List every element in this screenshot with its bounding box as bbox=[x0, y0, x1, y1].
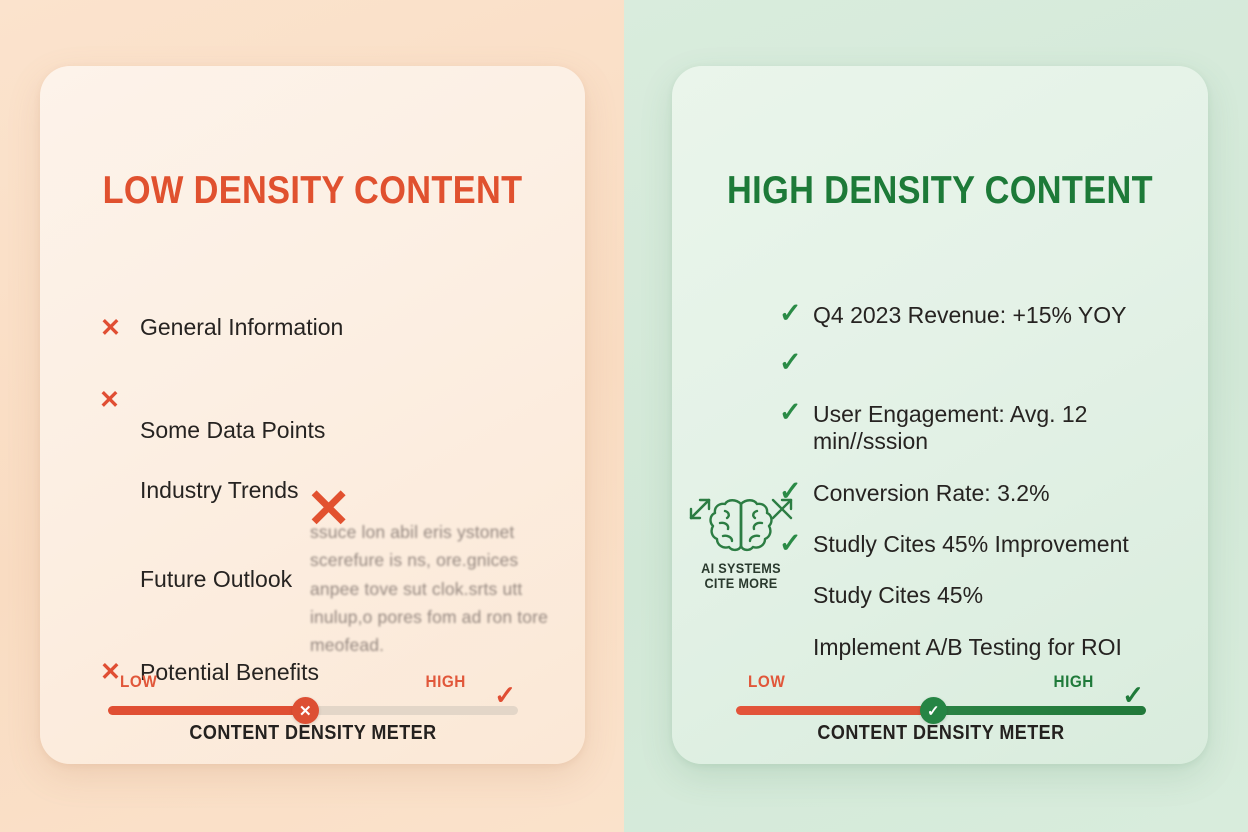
meter-knob[interactable]: ✓ bbox=[920, 697, 947, 724]
list-item-label: Study Cites 45% bbox=[813, 582, 983, 609]
list-item-label: User Engagement: Avg. 12 min//sssion bbox=[813, 401, 1098, 455]
list-item-label: General Information bbox=[140, 314, 343, 341]
content-density-meter-low[interactable]: LOW HIGH ✕ ✓ CONTENT DENSITY METER bbox=[108, 672, 518, 752]
x-mark-icon: ✕ bbox=[99, 388, 120, 413]
high-density-card: HIGH DENSITY CONTENT ✓ Q4 2023 Revenue: … bbox=[672, 66, 1208, 764]
meter-low-label: LOW bbox=[748, 672, 785, 692]
meter-high-label: HIGH bbox=[426, 672, 466, 692]
list-item-label: Q4 2023 Revenue: +15% YOY bbox=[813, 302, 1127, 329]
meter-caption: CONTENT DENSITY METER bbox=[129, 722, 498, 745]
ai-systems-badge-caption: AI SYSTEMS CITE MORE bbox=[686, 561, 797, 591]
meter-check-icon: ✓ bbox=[1122, 680, 1144, 711]
meter-low-label: LOW bbox=[120, 672, 157, 692]
x-mark-icon: ✕ bbox=[100, 316, 121, 341]
meter-high-label: HIGH bbox=[1054, 672, 1094, 692]
comparison-infographic: LOW DENSITY CONTENT ✕ General Informatio… bbox=[0, 0, 1248, 832]
low-density-title: LOW DENSITY CONTENT bbox=[73, 169, 553, 213]
meter-caption: CONTENT DENSITY METER bbox=[757, 722, 1126, 745]
meter-check-icon: ✓ bbox=[494, 680, 516, 711]
list-item-label: Implement A/B Testing for ROI bbox=[813, 634, 1122, 661]
check-mark-icon: ✓ bbox=[779, 349, 802, 376]
list-item-label: Some Data Points bbox=[140, 417, 325, 444]
check-mark-icon: ✓ bbox=[779, 399, 802, 426]
list-item-label: Future Outlook bbox=[140, 566, 292, 593]
low-density-card: LOW DENSITY CONTENT ✕ General Informatio… bbox=[40, 66, 585, 764]
list-item-label: Studly Cites 45% Improvement bbox=[813, 531, 1129, 558]
content-density-meter-high[interactable]: LOW HIGH ✓ ✓ CONTENT DENSITY METER bbox=[736, 672, 1146, 752]
high-density-title: HIGH DENSITY CONTENT bbox=[704, 169, 1176, 213]
blurred-filler-text: ssuce lon abil eris ystonet scerefure is… bbox=[310, 518, 575, 660]
check-mark-icon: ✓ bbox=[779, 300, 802, 327]
list-item-label: Industry Trends bbox=[140, 477, 299, 504]
meter-knob[interactable]: ✕ bbox=[292, 697, 319, 724]
brain-icon bbox=[682, 492, 800, 558]
ai-systems-badge: AI SYSTEMS CITE MORE bbox=[682, 492, 800, 591]
list-item-label: Conversion Rate: 3.2% bbox=[813, 480, 1050, 507]
